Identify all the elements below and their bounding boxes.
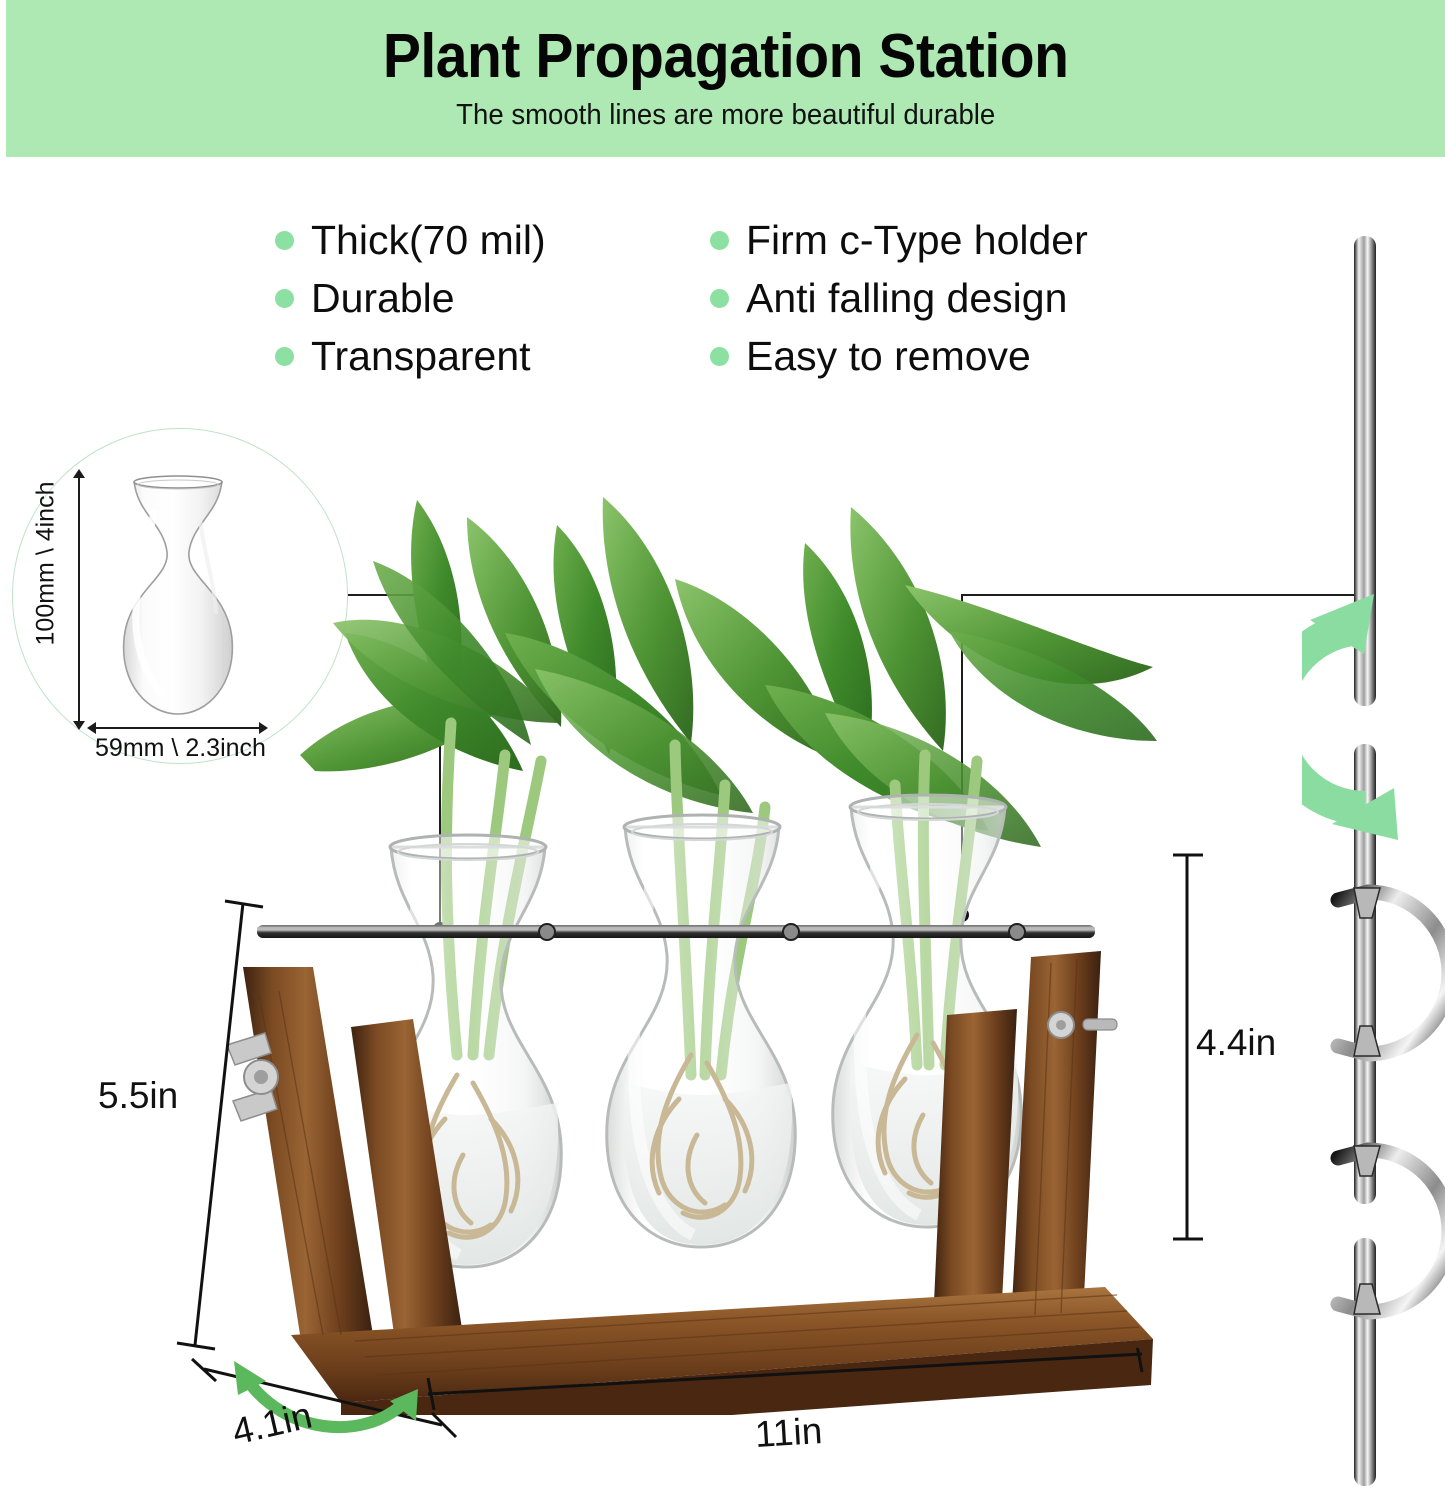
feature-label: Transparent xyxy=(311,336,531,377)
stand-height-dimension xyxy=(175,893,265,1363)
rotation-arrow-icon xyxy=(1302,594,1398,848)
stand-leg-right-front xyxy=(1011,951,1101,1323)
header-banner: Plant Propagation Station The smooth lin… xyxy=(6,0,1445,157)
product-photo xyxy=(205,455,1205,1415)
feature-column-right: Firm c-Type holder Anti falling design E… xyxy=(710,222,1210,397)
feature-item: Durable xyxy=(275,280,710,316)
bullet-dot-icon xyxy=(710,347,729,366)
feature-label: Thick(70 mil) xyxy=(311,220,546,261)
stand-width-label: 11in xyxy=(754,1410,824,1456)
feature-item: Transparent xyxy=(275,338,710,374)
bullet-dot-icon xyxy=(275,347,294,366)
metal-hanging-rod xyxy=(257,924,1095,940)
feature-label: Easy to remove xyxy=(746,336,1031,377)
page-subtitle: The smooth lines are more beautiful dura… xyxy=(456,99,995,132)
stand-height-label: 5.5in xyxy=(98,1075,178,1117)
vase-height-dimension-line xyxy=(78,477,80,722)
vase-height-label: 4.4in xyxy=(1196,1022,1276,1064)
feature-label: Durable xyxy=(311,278,455,319)
feature-label: Anti falling design xyxy=(746,278,1067,319)
feature-item: Firm c-Type holder xyxy=(710,222,1210,258)
feature-item: Thick(70 mil) xyxy=(275,222,710,258)
glass-vases xyxy=(373,795,1022,1267)
vase-height-label: 100mm \ 4inch xyxy=(32,479,61,649)
feature-column-left: Thick(70 mil) Durable Transparent xyxy=(275,222,710,397)
bullet-dot-icon xyxy=(275,289,294,308)
bullet-dot-icon xyxy=(710,231,729,250)
stand-leg-right-rear xyxy=(933,1009,1017,1325)
feature-item: Anti falling design xyxy=(710,280,1210,316)
bullet-dot-icon xyxy=(710,289,729,308)
c-type-holder-diagram xyxy=(1302,228,1445,1488)
bullet-dot-icon xyxy=(275,231,294,250)
feature-item: Easy to remove xyxy=(710,338,1210,374)
chrome-rod-bottom xyxy=(1354,1238,1376,1486)
glass-vase xyxy=(607,815,796,1247)
stand-depth-dimension xyxy=(190,1355,470,1465)
feature-list: Thick(70 mil) Durable Transparent Firm c… xyxy=(275,222,1210,397)
feature-label: Firm c-Type holder xyxy=(746,220,1088,261)
page-title: Plant Propagation Station xyxy=(383,25,1069,88)
